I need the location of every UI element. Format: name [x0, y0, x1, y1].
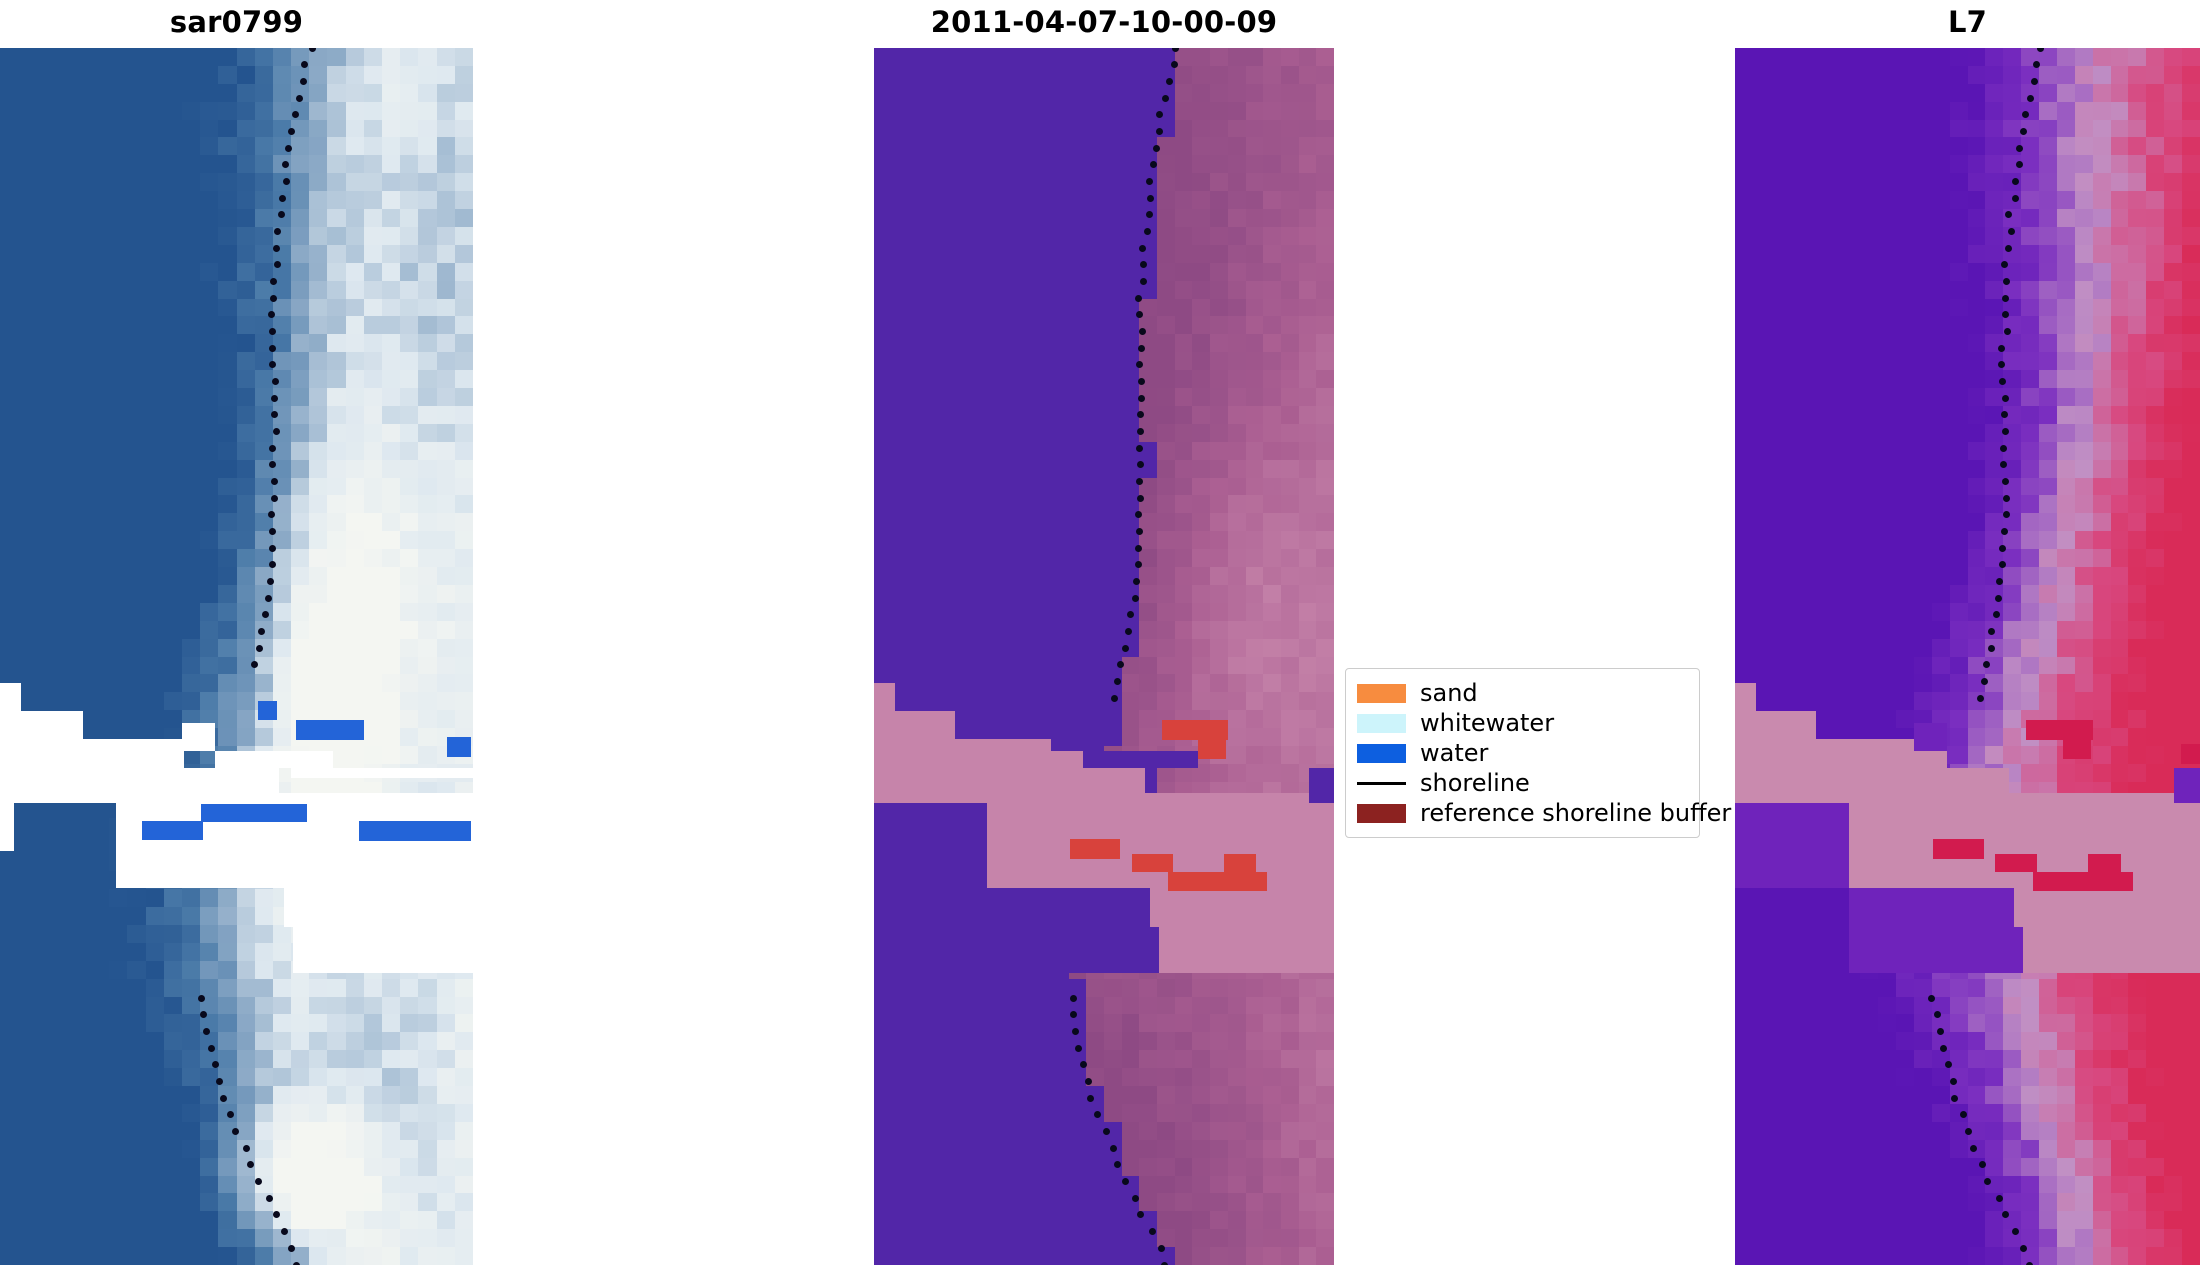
index-cell [2021, 245, 2040, 264]
class-cell [1175, 137, 1193, 156]
index-cell [2003, 603, 2022, 622]
raster-cell [400, 1158, 419, 1177]
raster-cell [309, 155, 328, 174]
raster-cell [73, 173, 92, 192]
raster-cell [146, 585, 165, 604]
raster-cell [291, 334, 310, 353]
raster-cell [237, 191, 256, 210]
class-cell [1316, 227, 1334, 246]
raster-cell [0, 495, 19, 514]
raster-cell [200, 424, 219, 443]
class-cell [1033, 281, 1051, 300]
raster-cell [364, 1104, 383, 1123]
index-cell [2039, 442, 2058, 461]
class-cell [1263, 1176, 1281, 1195]
class-cell [1299, 1068, 1317, 1087]
raster-cell [164, 155, 183, 174]
index-cell [1950, 549, 1969, 568]
index-cell [2039, 352, 2058, 371]
panel-sar-image [0, 48, 473, 1265]
class-cell [1263, 728, 1281, 747]
class-cell [1281, 1247, 1299, 1265]
raster-cell [218, 460, 237, 479]
class-cell [1192, 639, 1210, 658]
class-cell [1069, 316, 1087, 335]
raster-cell [0, 1229, 19, 1248]
class-cell [1175, 1158, 1193, 1177]
index-cell [2093, 84, 2112, 103]
class-cell [1228, 1104, 1246, 1123]
index-cell [2093, 764, 2112, 783]
raster-cell [91, 388, 110, 407]
raster-cell [200, 495, 219, 514]
index-cell [2182, 388, 2200, 407]
class-cell [1299, 102, 1317, 121]
class-cell [1299, 746, 1317, 765]
class-cell [1016, 102, 1034, 121]
raster-cell [237, 531, 256, 550]
index-cell [2146, 531, 2165, 550]
raster-cell [237, 316, 256, 335]
raster-cell [346, 639, 365, 658]
index-cell [2146, 281, 2165, 300]
raster-cell [0, 478, 19, 497]
raster-cell [437, 84, 456, 103]
class-cell [1051, 48, 1069, 67]
raster-cell [455, 227, 473, 246]
class-cell [1175, 84, 1193, 103]
raster-cell [36, 531, 55, 550]
raster-cell [55, 66, 74, 85]
class-cell [998, 1086, 1016, 1105]
raster-cell [182, 388, 201, 407]
index-cell [2057, 764, 2076, 783]
class-cell [980, 1032, 998, 1051]
class-cell [945, 1014, 963, 1033]
shoreline-marker [1136, 528, 1143, 535]
raster-cell [364, 1193, 383, 1212]
raster-cell [200, 352, 219, 371]
raster-cell [0, 549, 19, 568]
class-cell [1069, 674, 1087, 693]
class-cell [892, 657, 910, 676]
raster-cell [127, 1032, 146, 1051]
class-cell [874, 889, 892, 908]
class-cell [1263, 424, 1281, 443]
raster-cell [200, 406, 219, 425]
index-cell [2146, 84, 2165, 103]
index-cell [1968, 424, 1987, 443]
index-cell [1735, 406, 1754, 425]
index-cell [1914, 406, 1933, 425]
raster-cell [200, 567, 219, 586]
raster-cell [418, 1050, 437, 1069]
class-cell [1299, 48, 1317, 67]
class-cell [945, 102, 963, 121]
index-cell [2182, 316, 2200, 335]
raster-cell [73, 66, 92, 85]
panel-title-sar: sar0799 [0, 2, 473, 42]
index-cell [2111, 657, 2130, 676]
raster-cell [36, 478, 55, 497]
class-cell [998, 120, 1016, 139]
class-cell [1122, 1158, 1140, 1177]
index-cell [1860, 191, 1879, 210]
raster-cell [164, 137, 183, 156]
raster-cell [455, 1247, 473, 1265]
index-cell [1807, 370, 1826, 389]
raster-cell [109, 925, 128, 944]
index-cell [2021, 764, 2040, 783]
class-cell [1263, 1229, 1281, 1248]
raster-cell [127, 531, 146, 550]
class-cell [1281, 460, 1299, 479]
class-cell [998, 460, 1016, 479]
raster-cell [346, 1158, 365, 1177]
index-cell [1878, 513, 1897, 532]
class-cell [909, 1032, 927, 1051]
class-cell [1228, 1122, 1246, 1141]
shoreline-marker [203, 1028, 210, 1035]
raster-cell [255, 728, 274, 747]
raster-cell [164, 549, 183, 568]
index-cell [1789, 513, 1808, 532]
raster-cell [273, 567, 292, 586]
index-cell [2093, 48, 2112, 67]
class-cell [1316, 137, 1334, 156]
raster-cell [291, 352, 310, 371]
shoreline-marker [283, 178, 290, 185]
class-cell [1263, 1211, 1281, 1230]
raster-cell [146, 281, 165, 300]
raster-cell [200, 1211, 219, 1230]
class-cell [1051, 567, 1069, 586]
raster-cell [73, 209, 92, 228]
class-cell [1192, 1050, 1210, 1069]
index-cell [1842, 227, 1861, 246]
index-cell [2182, 442, 2200, 461]
class-cell [1157, 1050, 1175, 1069]
index-cell [1789, 48, 1808, 67]
index-cell [1807, 639, 1826, 658]
class-cell [980, 1104, 998, 1123]
raster-cell [146, 961, 165, 980]
raster-cell [237, 137, 256, 156]
class-cell [998, 513, 1016, 532]
raster-cell [18, 1158, 37, 1177]
class-cell [1069, 191, 1087, 210]
index-cell [1735, 513, 1754, 532]
index-cell [1824, 639, 1843, 658]
index-cell [2057, 657, 2076, 676]
index-cell [1735, 460, 1754, 479]
class-cell [962, 1158, 980, 1177]
class-cell [1157, 1176, 1175, 1195]
class-cell [927, 370, 945, 389]
index-cell [1932, 245, 1951, 264]
index-cell [2093, 746, 2112, 765]
shoreline-marker [243, 1145, 250, 1152]
class-cell [1016, 549, 1034, 568]
raster-cell [400, 513, 419, 532]
index-cell [1789, 460, 1808, 479]
class-cell [1033, 1211, 1051, 1230]
raster-cell [164, 316, 183, 335]
class-cell [1086, 1158, 1104, 1177]
class-cell [980, 710, 998, 729]
index-cell [1968, 173, 1987, 192]
index-cell [2075, 460, 2094, 479]
class-cell [874, 334, 892, 353]
sand-class-region [987, 803, 1334, 852]
class-cell [1104, 120, 1122, 139]
index-cell [2021, 299, 2040, 318]
class-cell [1281, 728, 1299, 747]
raster-cell [418, 191, 437, 210]
raster-cell [164, 657, 183, 676]
class-cell [1051, 370, 1069, 389]
class-cell [1228, 1176, 1246, 1195]
raster-cell [91, 692, 110, 711]
index-cell [2146, 191, 2165, 210]
raster-cell [291, 1014, 310, 1033]
class-cell [892, 478, 910, 497]
class-cell [1246, 495, 1264, 514]
class-cell [1210, 1014, 1228, 1033]
class-cell [1299, 191, 1317, 210]
raster-cell [346, 1086, 365, 1105]
raster-cell [455, 263, 473, 282]
raster-cell [437, 567, 456, 586]
raster-cell [400, 299, 419, 318]
class-cell [962, 495, 980, 514]
index-cell [1735, 442, 1754, 461]
class-cell [945, 907, 963, 926]
class-cell [1228, 1211, 1246, 1230]
class-cell [1033, 352, 1051, 371]
class-cell [892, 245, 910, 264]
index-cell [1896, 155, 1915, 174]
index-cell [1985, 173, 2004, 192]
raster-cell [364, 495, 383, 514]
class-cell [1263, 48, 1281, 67]
raster-cell [127, 1229, 146, 1248]
index-cell [2003, 585, 2022, 604]
class-cell [1299, 513, 1317, 532]
raster-cell [346, 1122, 365, 1141]
raster-cell [400, 48, 419, 67]
raster-cell [109, 263, 128, 282]
raster-cell [91, 102, 110, 121]
raster-cell [437, 370, 456, 389]
raster-cell [382, 1193, 401, 1212]
class-cell [1210, 1193, 1228, 1212]
shoreline-marker [1144, 228, 1151, 235]
class-cell [1051, 603, 1069, 622]
raster-cell [91, 1104, 110, 1123]
index-cell [1771, 692, 1790, 711]
index-cell [2075, 567, 2094, 586]
index-cell [1985, 281, 2004, 300]
class-cell [927, 1140, 945, 1159]
class-cell [998, 478, 1016, 497]
class-cell [962, 227, 980, 246]
class-cell [1122, 657, 1140, 676]
class-cell [1192, 603, 1210, 622]
class-cell [927, 66, 945, 85]
raster-cell [418, 728, 437, 747]
raster-cell [255, 1229, 274, 1248]
class-cell [945, 245, 963, 264]
raster-cell [327, 173, 346, 192]
raster-cell [91, 907, 110, 926]
raster-cell [91, 227, 110, 246]
class-cell [1316, 316, 1334, 335]
raster-cell [400, 263, 419, 282]
raster-cell [291, 549, 310, 568]
index-cell [1914, 299, 1933, 318]
raster-cell [109, 710, 128, 729]
class-cell [1175, 997, 1193, 1016]
raster-cell [182, 102, 201, 121]
index-cell [1932, 603, 1951, 622]
class-cell [1016, 692, 1034, 711]
class-cell [1104, 513, 1122, 532]
raster-cell [218, 889, 237, 908]
raster-cell [255, 1158, 274, 1177]
index-cell [1842, 639, 1861, 658]
shoreline-marker [1139, 245, 1146, 252]
index-cell [2128, 66, 2147, 85]
index-cell [2164, 352, 2183, 371]
raster-cell [255, 925, 274, 944]
raster-cell [437, 442, 456, 461]
raster-cell [36, 907, 55, 926]
class-cell [980, 1068, 998, 1087]
class-cell [1263, 1068, 1281, 1087]
class-cell [1157, 513, 1175, 532]
index-cell [1824, 227, 1843, 246]
shoreline-marker [265, 595, 272, 602]
raster-cell [109, 639, 128, 658]
raster-cell [309, 674, 328, 693]
class-cell [927, 245, 945, 264]
shoreline-marker [1087, 1095, 1094, 1102]
class-cell [1175, 531, 1193, 550]
class-cell [892, 639, 910, 658]
index-cell [1950, 621, 1969, 640]
class-cell [927, 442, 945, 461]
class-cell [1175, 979, 1193, 998]
raster-cell [273, 102, 292, 121]
class-cell [980, 137, 998, 156]
class-cell [1086, 460, 1104, 479]
raster-cell [291, 585, 310, 604]
raster-cell [327, 1086, 346, 1105]
raster-cell [400, 692, 419, 711]
index-cell [2075, 388, 2094, 407]
raster-cell [237, 245, 256, 264]
raster-cell [455, 120, 473, 139]
class-cell [909, 943, 927, 962]
raster-cell [418, 603, 437, 622]
class-cell [962, 155, 980, 174]
raster-cell [91, 943, 110, 962]
class-cell [1051, 1140, 1069, 1159]
index-cell [1807, 460, 1826, 479]
raster-cell [218, 263, 237, 282]
index-cell [2128, 102, 2147, 121]
raster-cell [309, 424, 328, 443]
raster-cell [182, 1211, 201, 1230]
raster-cell [0, 907, 19, 926]
class-cell [1299, 1193, 1317, 1212]
raster-cell [55, 1211, 74, 1230]
index-cell [1950, 245, 1969, 264]
class-cell [892, 137, 910, 156]
raster-cell [182, 495, 201, 514]
raster-cell [418, 1104, 437, 1123]
index-cell [1860, 585, 1879, 604]
class-cell [1122, 263, 1140, 282]
raster-cell [309, 1068, 328, 1087]
raster-cell [455, 639, 473, 658]
class-cell [1299, 1176, 1317, 1195]
raster-cell [182, 961, 201, 980]
raster-cell [36, 513, 55, 532]
class-cell [1104, 603, 1122, 622]
index-cell [2039, 746, 2058, 765]
index-cell [2093, 442, 2112, 461]
class-cell [945, 173, 963, 192]
raster-cell [273, 979, 292, 998]
index-cell [2182, 84, 2200, 103]
raster-cell [237, 1247, 256, 1265]
class-cell [1086, 710, 1104, 729]
class-cell [1157, 674, 1175, 693]
raster-cell [200, 657, 219, 676]
class-cell [1104, 728, 1122, 747]
class-cell [927, 621, 945, 640]
index-cell [2039, 173, 2058, 192]
index-cell [2164, 406, 2183, 425]
index-cell [2093, 227, 2112, 246]
raster-cell [36, 567, 55, 586]
class-cell [927, 495, 945, 514]
class-cell [1228, 549, 1246, 568]
class-cell [1316, 173, 1334, 192]
index-cell [2003, 442, 2022, 461]
class-cell [927, 1122, 945, 1141]
index-cell [1968, 442, 1987, 461]
class-cell [945, 531, 963, 550]
class-cell [1246, 352, 1264, 371]
raster-cell [346, 495, 365, 514]
class-cell [1051, 1211, 1069, 1230]
raster-cell [91, 137, 110, 156]
raster-cell [109, 478, 128, 497]
class-cell [927, 1247, 945, 1265]
class-cell [980, 639, 998, 658]
raster-cell [237, 155, 256, 174]
raster-cell [255, 997, 274, 1016]
raster-cell [164, 263, 183, 282]
shoreline-marker [1122, 645, 1129, 652]
class-cell [1299, 66, 1317, 85]
index-cell [1950, 513, 1969, 532]
index-cell [2146, 639, 2165, 658]
raster-cell [309, 1247, 328, 1265]
